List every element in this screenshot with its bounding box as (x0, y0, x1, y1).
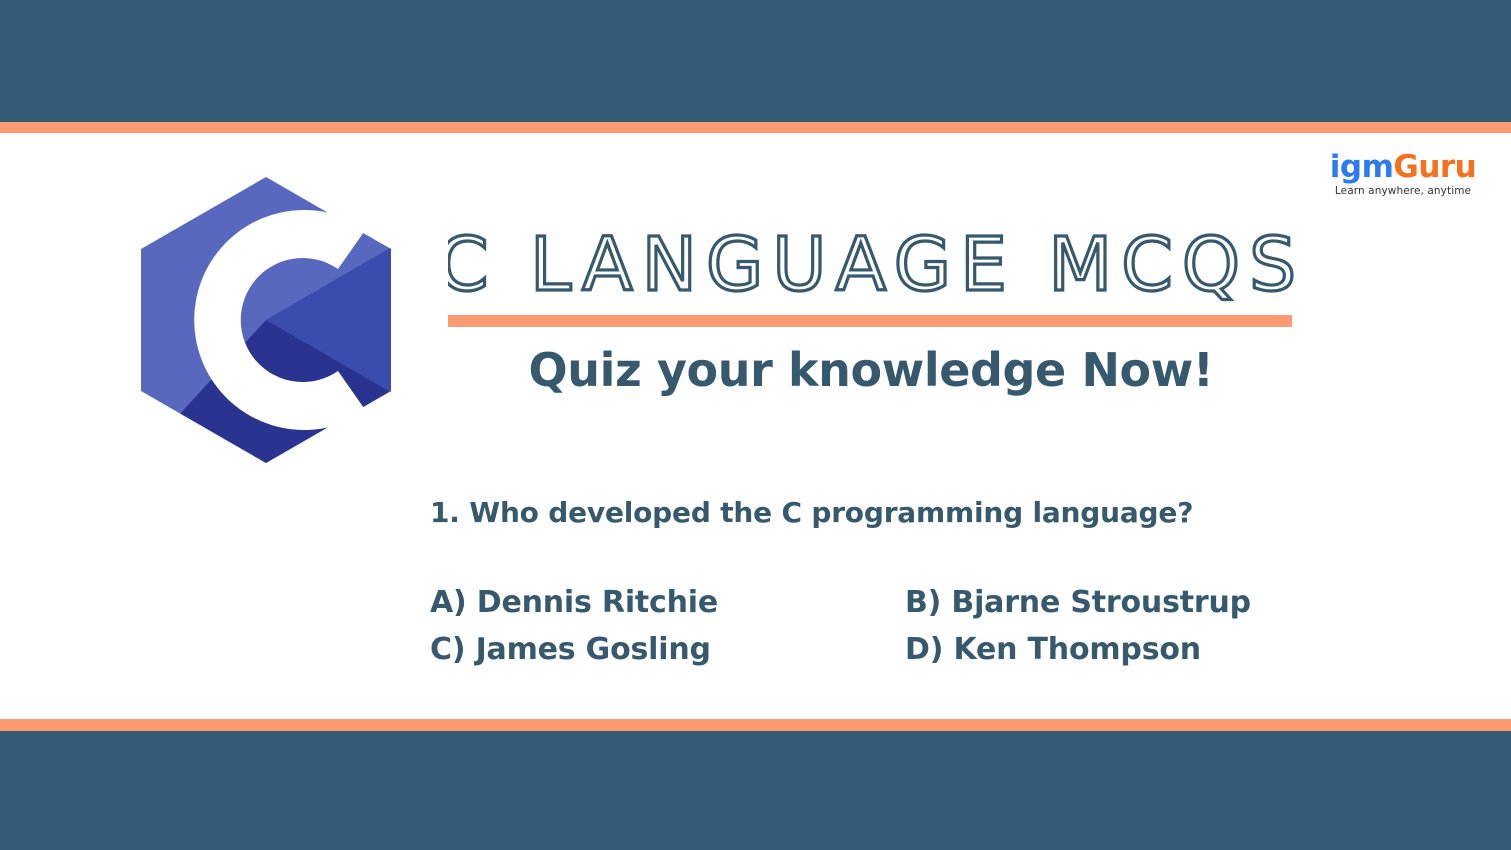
brand-logo: igmGuru Learn anywhere, anytime (1323, 152, 1483, 197)
quiz-option-b[interactable]: B) Bjarne Stroustrup (905, 585, 1290, 620)
brand-tagline: Learn anywhere, anytime (1323, 186, 1483, 197)
quiz-option-c[interactable]: C) James Gosling (430, 632, 905, 667)
headline-underline-rule (448, 315, 1292, 327)
headline-subtitle: Quiz your knowledge Now! (448, 343, 1294, 397)
quiz-option-d[interactable]: D) Ken Thompson (905, 632, 1290, 667)
headline-title: C LANGUAGE MCQS (448, 222, 1294, 308)
top-orange-accent-band (0, 122, 1511, 133)
quiz-question-text: 1. Who developed the C programming langu… (430, 496, 1290, 529)
brand-wordmark: igmGuru (1323, 152, 1483, 183)
c-language-hexagon-logo (133, 175, 399, 465)
quiz-question-block: 1. Who developed the C programming langu… (430, 496, 1290, 667)
bottom-orange-accent-band (0, 719, 1511, 731)
top-teal-band (0, 0, 1511, 122)
headline-block: C LANGUAGE MCQS Quiz your knowledge Now! (448, 222, 1294, 397)
brand-wordmark-guru: Guru (1393, 149, 1476, 185)
bottom-teal-band (0, 731, 1511, 850)
brand-wordmark-igm: igm (1330, 149, 1394, 185)
quiz-option-a[interactable]: A) Dennis Ritchie (430, 585, 905, 620)
quiz-slide: igmGuru Learn anywhere, anytime C LANGUA… (0, 0, 1511, 850)
quiz-options-grid: A) Dennis Ritchie B) Bjarne Stroustrup C… (430, 585, 1290, 667)
